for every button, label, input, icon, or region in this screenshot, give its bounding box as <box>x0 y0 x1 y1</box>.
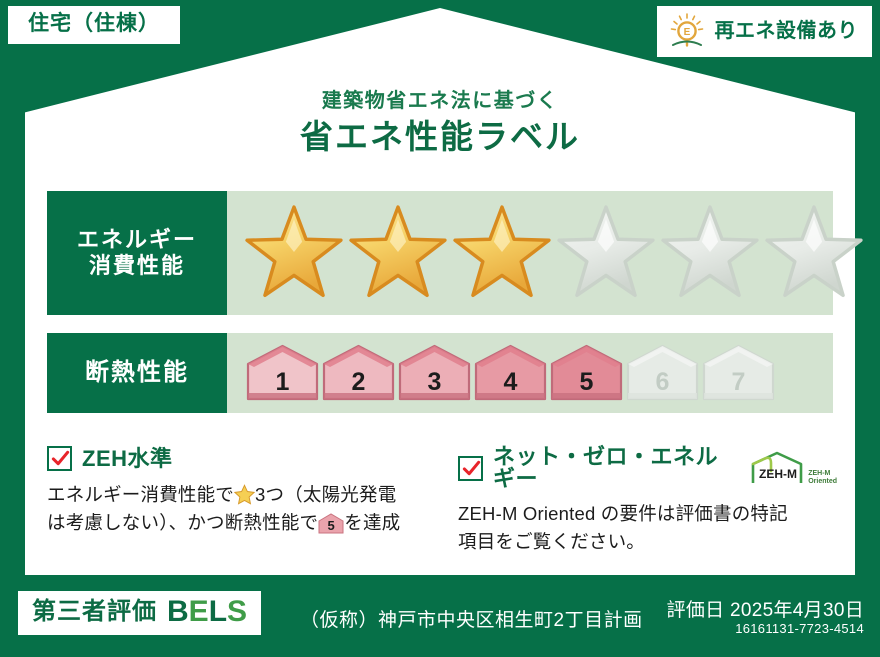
star-filled-icon <box>451 203 553 303</box>
zeh-m-house-icon: ZEH-M <box>749 451 805 485</box>
insulation-grade-number: 2 <box>321 370 396 395</box>
label-footer: 第三者評価 BELS （仮称）神戸市中央区相生町2丁目計画 評価日 2025年4… <box>0 575 880 657</box>
label-subtitle: 建築物省エネ法に基づく <box>0 84 880 113</box>
energy-performance-label-box: エネルギー 消費性能 <box>47 191 227 315</box>
bels-letter-e: E <box>189 595 209 628</box>
energy-performance-content <box>227 191 865 315</box>
bels-letter-b: B <box>167 595 189 628</box>
zeh-m-logo-text: ZEH-M <box>759 467 797 481</box>
insulation-grade-number: 4 <box>473 370 548 395</box>
zeh-m-sub-line1: ZEH-M <box>808 470 830 477</box>
insulation-grade-active: 3 <box>397 344 472 402</box>
bels-letter-s: S <box>227 595 247 628</box>
svg-text:E: E <box>683 27 690 38</box>
insulation-grade-number: 3 <box>397 370 472 395</box>
energy-label-line1: エネルギー <box>77 227 197 253</box>
notes-section: ZEH水準 エネルギー消費性能で3つ（太陽光発電は考慮しない）、かつ断熱性能で5… <box>47 446 837 556</box>
building-type-label: 住宅（住棟） <box>28 12 160 35</box>
net-zero-energy-note: ネット・ゼロ・エネルギー ZEH-M ZEH-M Oriented ZEH-M … <box>442 446 837 556</box>
star-filled-icon <box>347 203 449 303</box>
insulation-grade-active: 2 <box>321 344 396 402</box>
net-zero-head: ネット・ゼロ・エネルギー ZEH-M ZEH-M Oriented <box>458 446 837 490</box>
solar-energy-icon: E <box>667 11 707 51</box>
insulation-label: 断熱性能 <box>85 359 189 387</box>
inline-house-badge: 5 <box>318 513 344 534</box>
insulation-grade-number: 6 <box>625 370 700 395</box>
net-zero-body-line1: ZEH-M Oriented の要件は評価書の特記 <box>458 503 788 524</box>
net-zero-body: ZEH-M Oriented の要件は評価書の特記 項目をご覧ください。 <box>458 500 837 556</box>
insulation-grade-number: 5 <box>549 370 624 395</box>
insulation-grade-active: 4 <box>473 344 548 402</box>
insulation-performance-row: 断熱性能 1234567 <box>47 333 833 413</box>
zeh-standard-head: ZEH水準 <box>47 446 442 471</box>
zeh-m-logo: ZEH-M ZEH-M Oriented <box>749 451 837 485</box>
energy-label-line2: 消費性能 <box>89 253 185 279</box>
third-party-eval-label: 第三者評価 <box>32 600 157 624</box>
insulation-grade-number: 1 <box>245 370 320 395</box>
project-name: （仮称）神戸市中央区相生町2丁目計画 <box>300 605 643 632</box>
zeh-m-sub-line2: Oriented <box>808 478 837 485</box>
zeh-standard-body: エネルギー消費性能で3つ（太陽光発電は考慮しない）、かつ断熱性能で5を達成 <box>47 481 442 537</box>
renewable-badge-label: 再エネ設備あり <box>715 21 859 41</box>
evaluation-id: 16161131-7723-4514 <box>735 621 864 636</box>
building-type-chip: 住宅（住棟） <box>8 6 180 44</box>
insulation-performance-label-box: 断熱性能 <box>47 333 227 413</box>
energy-performance-label: 住宅（住棟） E 再エネ設備あり 建築物省エネ <box>0 0 880 657</box>
check-icon <box>462 459 481 478</box>
insulation-grade-number: 7 <box>701 370 776 395</box>
insulation-grade-active: 1 <box>245 344 320 402</box>
zeh-standard-checkbox[interactable] <box>47 446 72 471</box>
net-zero-body-line2: 項目をご覧ください。 <box>458 531 645 552</box>
zeh-standard-note: ZEH水準 エネルギー消費性能で3つ（太陽光発電は考慮しない）、かつ断熱性能で5… <box>47 446 442 556</box>
net-zero-checkbox[interactable] <box>458 456 483 481</box>
star-empty-icon <box>659 203 761 303</box>
inline-star-icon <box>234 484 255 505</box>
evaluation-date: 評価日 2025年4月30日 <box>667 595 864 622</box>
insulation-performance-content: 1234567 <box>227 333 833 413</box>
net-zero-title: ネット・ゼロ・エネルギー <box>493 446 733 490</box>
zeh-standard-title: ZEH水準 <box>82 448 173 470</box>
zeh-body-part3: を達成 <box>344 512 400 533</box>
renewable-equipment-badge: E 再エネ設備あり <box>657 6 873 57</box>
bels-chip: 第三者評価 BELS <box>18 591 261 635</box>
bels-logo: BELS <box>167 597 247 627</box>
check-icon <box>51 449 70 468</box>
inline-house-value: 5 <box>318 519 344 532</box>
insulation-grade-active: 5 <box>549 344 624 402</box>
star-rating <box>227 203 865 303</box>
insulation-grade-scale: 1234567 <box>227 344 776 402</box>
bels-letter-l: L <box>209 595 227 628</box>
star-empty-icon <box>763 203 865 303</box>
insulation-grade-inactive: 7 <box>701 344 776 402</box>
page-title: 省エネ性能ラベル <box>0 110 880 158</box>
zeh-body-star-count: 3つ（太陽光発電 <box>255 484 396 505</box>
zeh-body-part2: は考慮しない）、かつ断熱性能で <box>47 512 318 533</box>
zeh-body-part1: エネルギー消費性能で <box>47 484 234 505</box>
star-empty-icon <box>555 203 657 303</box>
zeh-m-logo-sub: ZEH-M Oriented <box>808 470 837 485</box>
energy-performance-row: エネルギー 消費性能 <box>47 191 833 315</box>
insulation-grade-inactive: 6 <box>625 344 700 402</box>
star-filled-icon <box>243 203 345 303</box>
